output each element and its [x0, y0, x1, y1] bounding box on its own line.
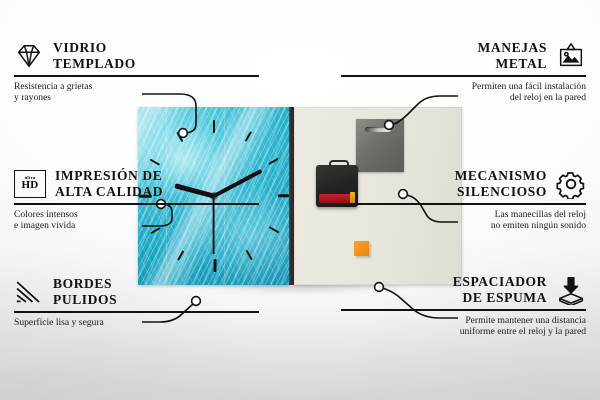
feature-desc: Superficie lisa y segura	[14, 317, 259, 329]
clock-tick	[150, 159, 160, 165]
feature-espaciador-de-espuma[interactable]: ESPACIADOR DE ESPUMA Permite mantener un…	[341, 274, 586, 338]
feature-impresion-alta-calidad[interactable]: ultra HD IMPRESIÓN DE ALTA CALIDAD Color…	[14, 168, 259, 232]
feature-manejas-metal[interactable]: MANEJAS METAL Permiten una fácil instala…	[341, 40, 586, 104]
diamond-icon	[14, 41, 44, 71]
clock-tick	[214, 259, 216, 272]
divider	[14, 311, 259, 313]
feature-title: ESPACIADOR	[453, 274, 547, 290]
divider	[14, 75, 259, 77]
feature-title: MECANISMO	[455, 168, 547, 184]
feature-title: SILENCIOSO	[455, 184, 547, 200]
feature-desc: no emiten ningún sonido	[341, 220, 586, 232]
feature-title: VIDRIO	[53, 40, 136, 56]
feature-title: BORDES	[53, 276, 117, 292]
foam-spacer	[354, 241, 369, 256]
feature-mecanismo-silencioso[interactable]: MECANISMO SILENCIOSO Las manecillas del …	[341, 168, 586, 232]
feature-title: IMPRESIÓN DE	[55, 168, 163, 184]
feature-title: TEMPLADO	[53, 56, 136, 72]
divider	[341, 203, 586, 205]
hanger-keyhole-slot	[365, 127, 391, 132]
picture-frame-icon	[556, 41, 586, 71]
gear-icon	[556, 169, 586, 199]
clock-tick	[268, 227, 278, 233]
clock-tick	[245, 250, 251, 260]
feature-desc: e imagen vívida	[14, 220, 259, 232]
arrow-down-pad-icon	[556, 275, 586, 305]
clock-tick	[214, 120, 216, 133]
feature-desc: y rayones	[14, 92, 259, 104]
feature-title: ALTA CALIDAD	[55, 184, 163, 200]
feature-desc: Colores intensos	[14, 209, 259, 221]
clock-tick	[268, 159, 278, 165]
feature-desc: Permite mantener una distancia	[341, 315, 586, 327]
feature-title: METAL	[478, 56, 547, 72]
feature-desc: del reloj en la pared	[341, 92, 586, 104]
feature-title: PULIDOS	[53, 292, 117, 308]
divider	[341, 309, 586, 311]
ultra-hd-icon: ultra HD	[14, 170, 46, 198]
infographic-canvas: VIDRIO TEMPLADO Resistencia a grietas y …	[0, 0, 600, 400]
feature-desc: Permiten una fácil instalación	[341, 81, 586, 93]
clock-tick	[177, 250, 183, 260]
feature-bordes-pulidos[interactable]: BORDES PULIDOS Superficie lisa y segura	[14, 276, 259, 328]
ultra-hd-large-text: HD	[21, 180, 38, 191]
feature-desc: uniforme entre el reloj y la pared	[341, 326, 586, 338]
feature-title: MANEJAS	[478, 40, 547, 56]
divider	[341, 75, 586, 77]
feature-vidrio-templado[interactable]: VIDRIO TEMPLADO Resistencia a grietas y …	[14, 40, 259, 104]
clock-tick	[277, 195, 289, 197]
clock-tick	[177, 132, 183, 142]
diagonal-lines-icon	[14, 277, 44, 307]
feature-desc: Las manecillas del reloj	[341, 209, 586, 221]
feature-desc: Resistencia a grietas	[14, 81, 259, 93]
hanger-plate	[356, 119, 404, 172]
clock-tick	[245, 132, 251, 142]
feature-title: DE ESPUMA	[453, 290, 547, 306]
divider	[14, 203, 259, 205]
